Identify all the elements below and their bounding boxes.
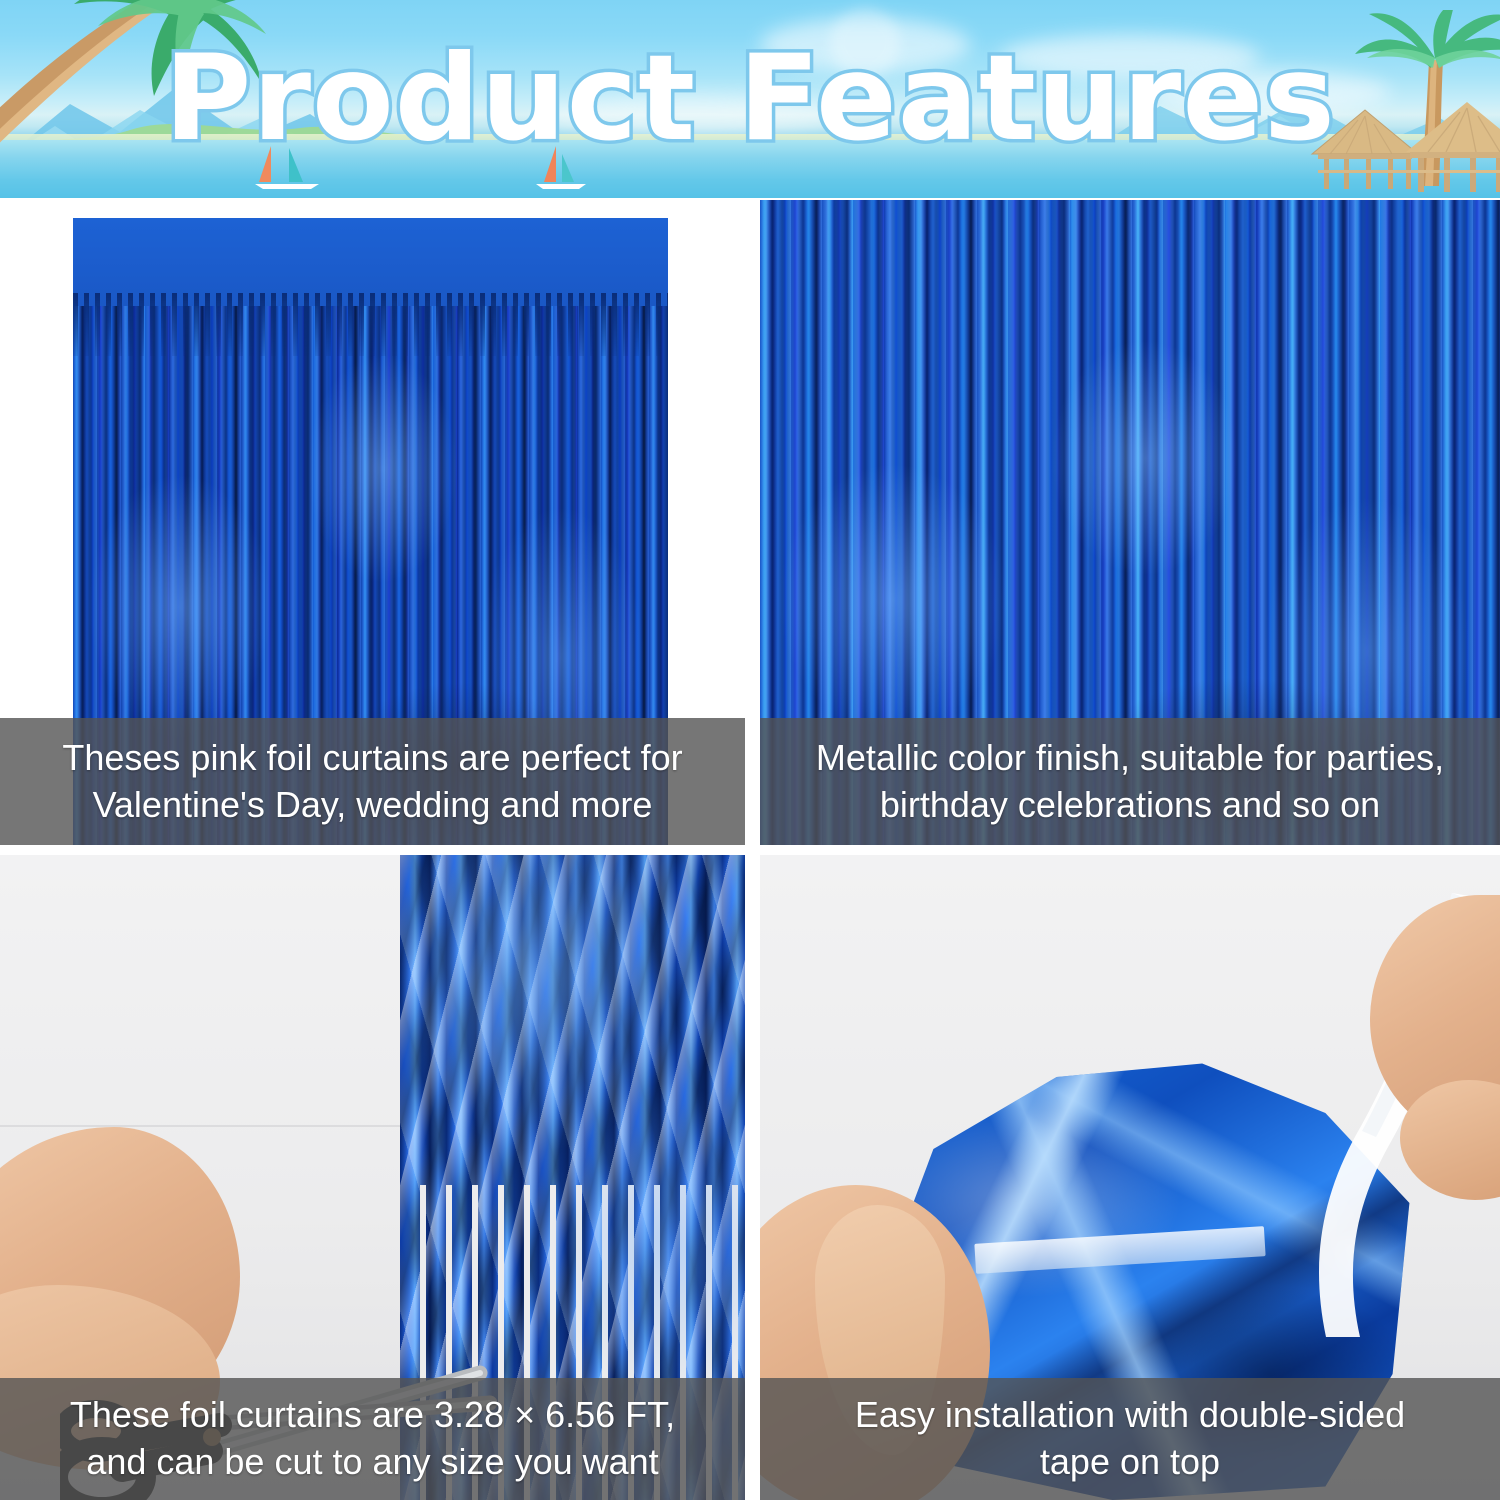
header-banner: Product Features <box>0 0 1500 198</box>
panel-caption: Easy installation with double-sided tape… <box>760 1378 1500 1500</box>
caption-line-1: Easy installation with double-sided <box>855 1392 1405 1439</box>
caption-line-2: birthday celebrations and so on <box>816 782 1444 829</box>
caption-line-2: Valentine's Day, wedding and more <box>62 782 682 829</box>
caption-line-1: These foil curtains are 3.28 × 6.56 FT, <box>70 1392 675 1439</box>
caption-line-2: and can be cut to any size you want <box>70 1439 675 1486</box>
caption-line-2: tape on top <box>855 1439 1405 1486</box>
panel-cut-to-size: These foil curtains are 3.28 × 6.56 FT, … <box>0 855 745 1500</box>
caption-line-1: Metallic color finish, suitable for part… <box>816 735 1444 782</box>
panel-easy-install: Easy installation with double-sided tape… <box>760 855 1500 1500</box>
page-title: Product Features <box>0 36 1500 161</box>
panel-caption: Metallic color finish, suitable for part… <box>760 718 1500 845</box>
panel-caption: These foil curtains are 3.28 × 6.56 FT, … <box>0 1378 745 1500</box>
panel-curtain-closeup: Theses pink foil curtains are perfect fo… <box>0 200 745 845</box>
panel-caption: Theses pink foil curtains are perfect fo… <box>0 718 745 845</box>
caption-line-1: Theses pink foil curtains are perfect fo… <box>62 735 682 782</box>
panel-metallic-finish: Metallic color finish, suitable for part… <box>760 200 1500 845</box>
